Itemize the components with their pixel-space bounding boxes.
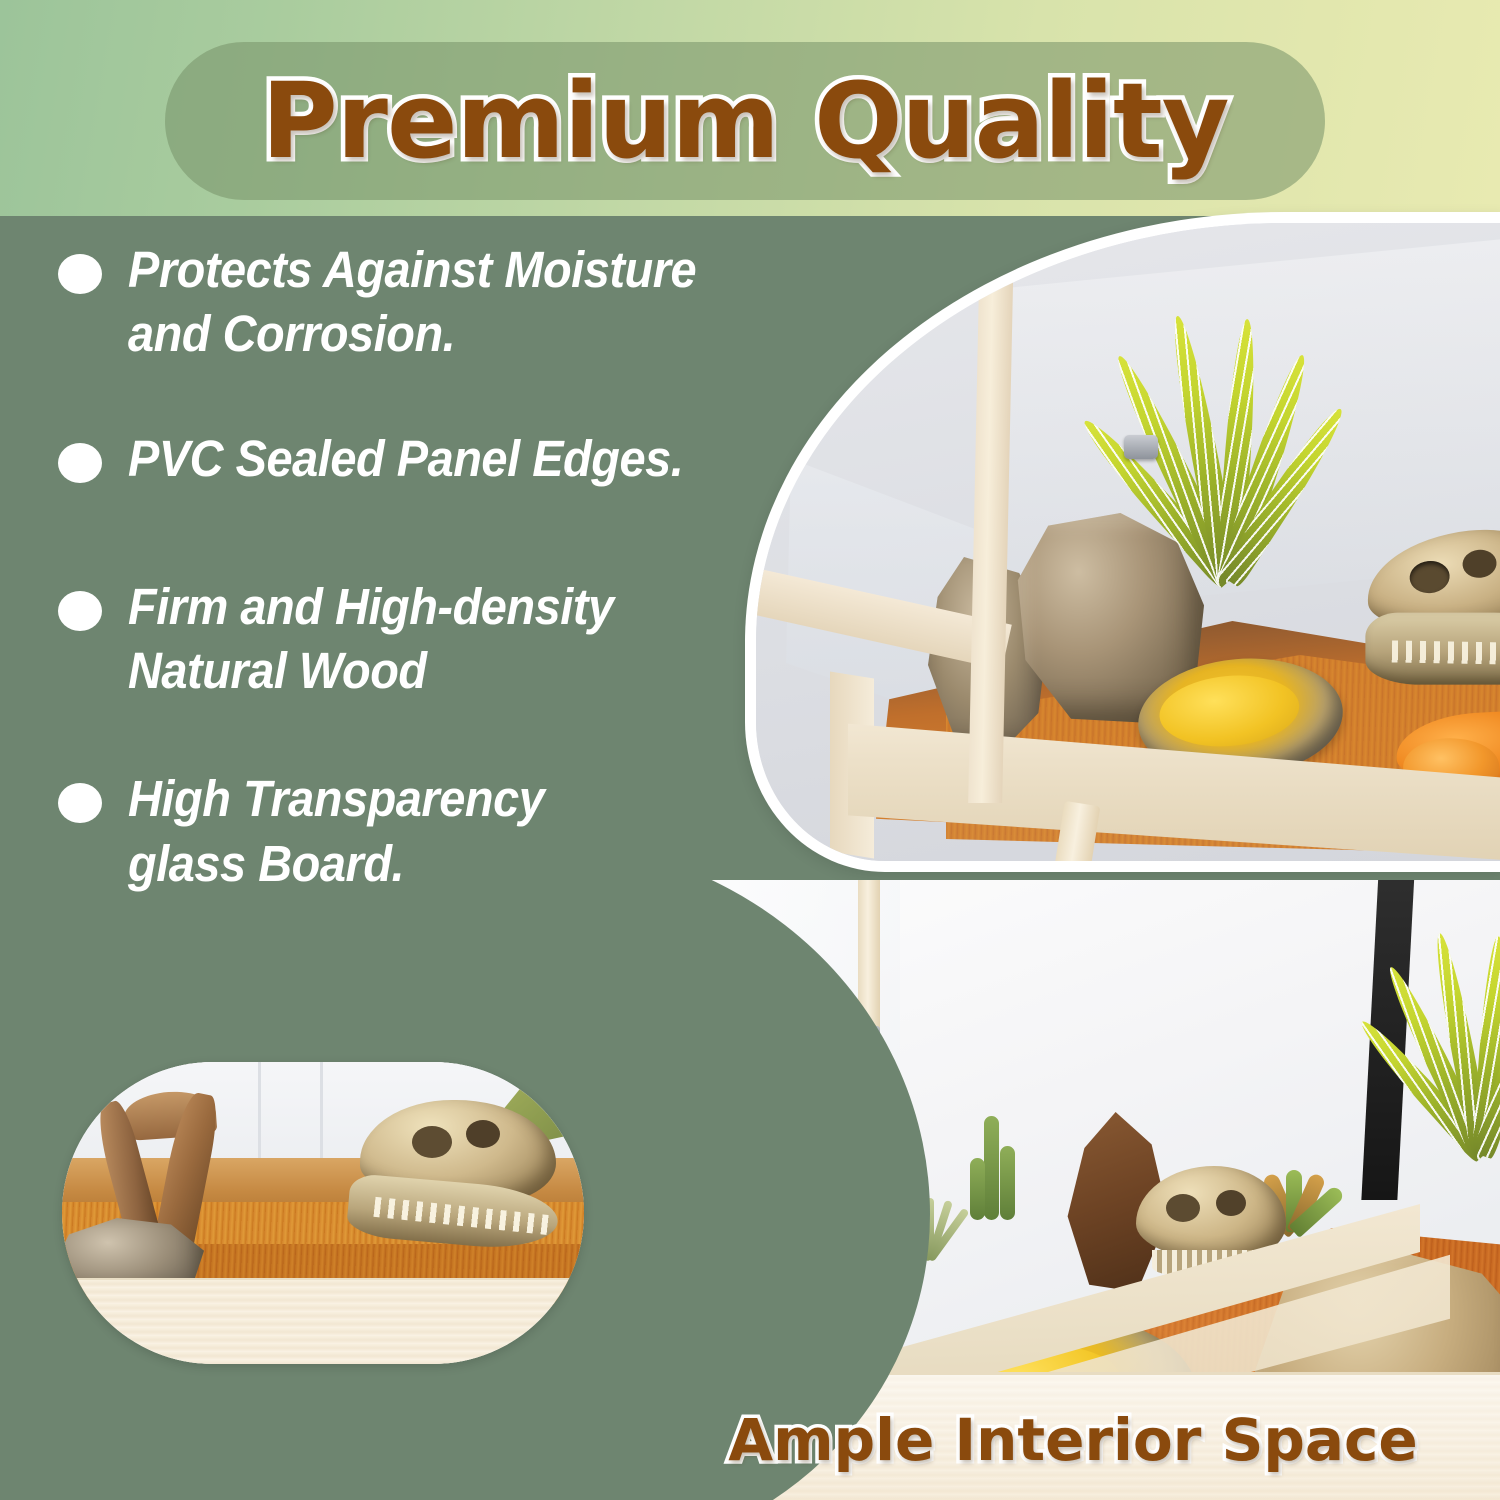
terrarium-scene <box>756 223 1500 861</box>
wood-base-panel <box>62 1278 584 1364</box>
list-item: PVC Sealed Panel Edges. <box>58 427 878 491</box>
bullet-dot-icon <box>58 254 102 294</box>
list-item: High Transparency glass Board. <box>58 767 878 896</box>
hinge-knob-icon <box>1124 435 1158 459</box>
photo-caption: Ample Interior Space <box>640 1392 1500 1488</box>
header-band: Premium Quality <box>0 0 1500 216</box>
product-photo-top-right <box>745 212 1500 872</box>
fern-plant-decor <box>1051 241 1381 581</box>
bullet-dot-icon <box>58 443 102 483</box>
list-item: Protects Against Moisture and Corrosion. <box>58 238 878 367</box>
product-photo-inset <box>62 1062 584 1364</box>
feature-label: Protects Against Moisture and Corrosion. <box>128 238 696 367</box>
page-title: Premium Quality <box>165 42 1325 200</box>
feature-label: High Transparency glass Board. <box>128 767 544 896</box>
feature-label: Firm and High-density Natural Wood <box>128 575 614 704</box>
infographic-canvas: Premium Quality Protects Against Moistur… <box>0 0 1500 1500</box>
fern-plant-decor <box>1382 880 1500 1156</box>
dinosaur-skull-decor <box>334 1100 564 1270</box>
bullet-dot-icon <box>58 591 102 631</box>
cactus-decor <box>970 1116 1016 1220</box>
feature-label: PVC Sealed Panel Edges. <box>128 427 683 491</box>
bullet-dot-icon <box>58 783 102 823</box>
